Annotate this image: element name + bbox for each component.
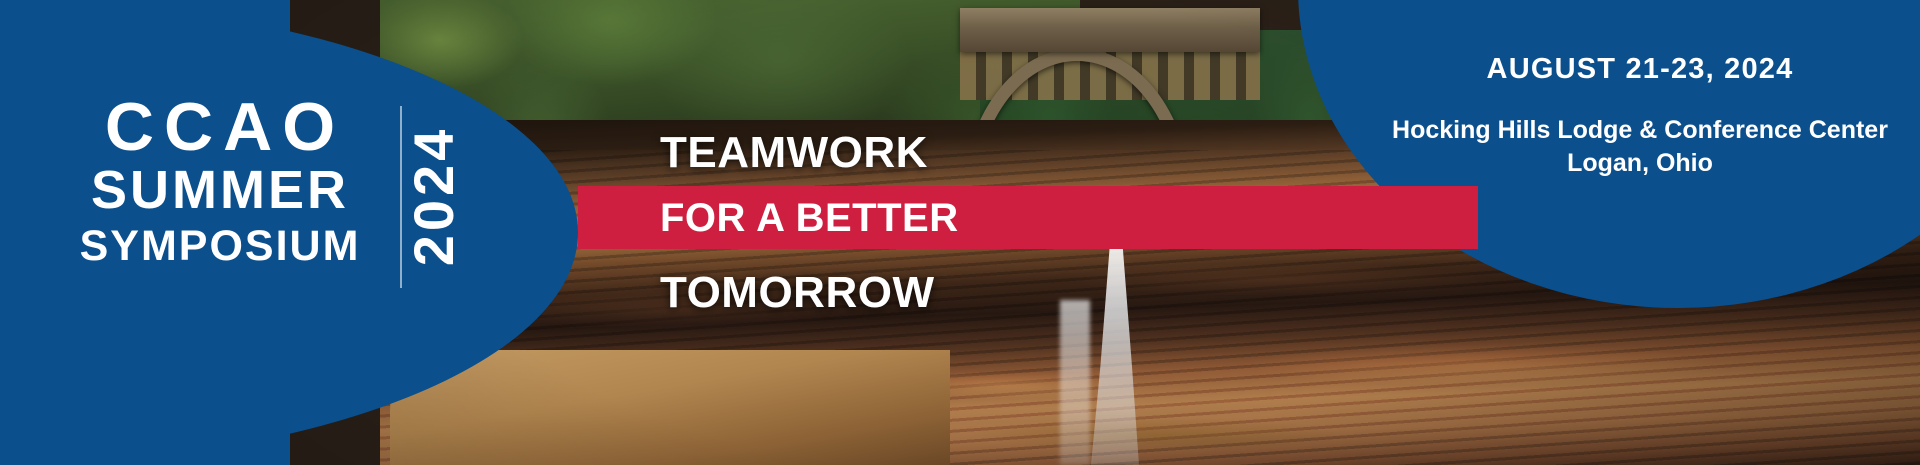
photo-stone-bridge-deck [960, 8, 1260, 52]
logo-year-vertical: 2024 [333, 96, 533, 296]
event-details: AUGUST 21-23, 2024 Hocking Hills Lodge &… [1380, 52, 1900, 180]
event-dates: AUGUST 21-23, 2024 [1380, 52, 1900, 87]
tagline-line-tomorrow: TOMORROW [660, 268, 935, 318]
event-banner: CCAO SUMMER SYMPOSIUM 2024 TEAMWORK FOR … [0, 0, 1920, 465]
event-venue: Hocking Hills Lodge & Conference Center [1380, 114, 1900, 147]
photo-rock-shelf [390, 350, 950, 465]
tagline-line-for-a-better: FOR A BETTER [660, 196, 959, 241]
tagline-line-teamwork: TEAMWORK [660, 128, 928, 178]
photo-waterfall-secondary [1060, 300, 1090, 465]
event-city: Logan, Ohio [1380, 147, 1900, 180]
